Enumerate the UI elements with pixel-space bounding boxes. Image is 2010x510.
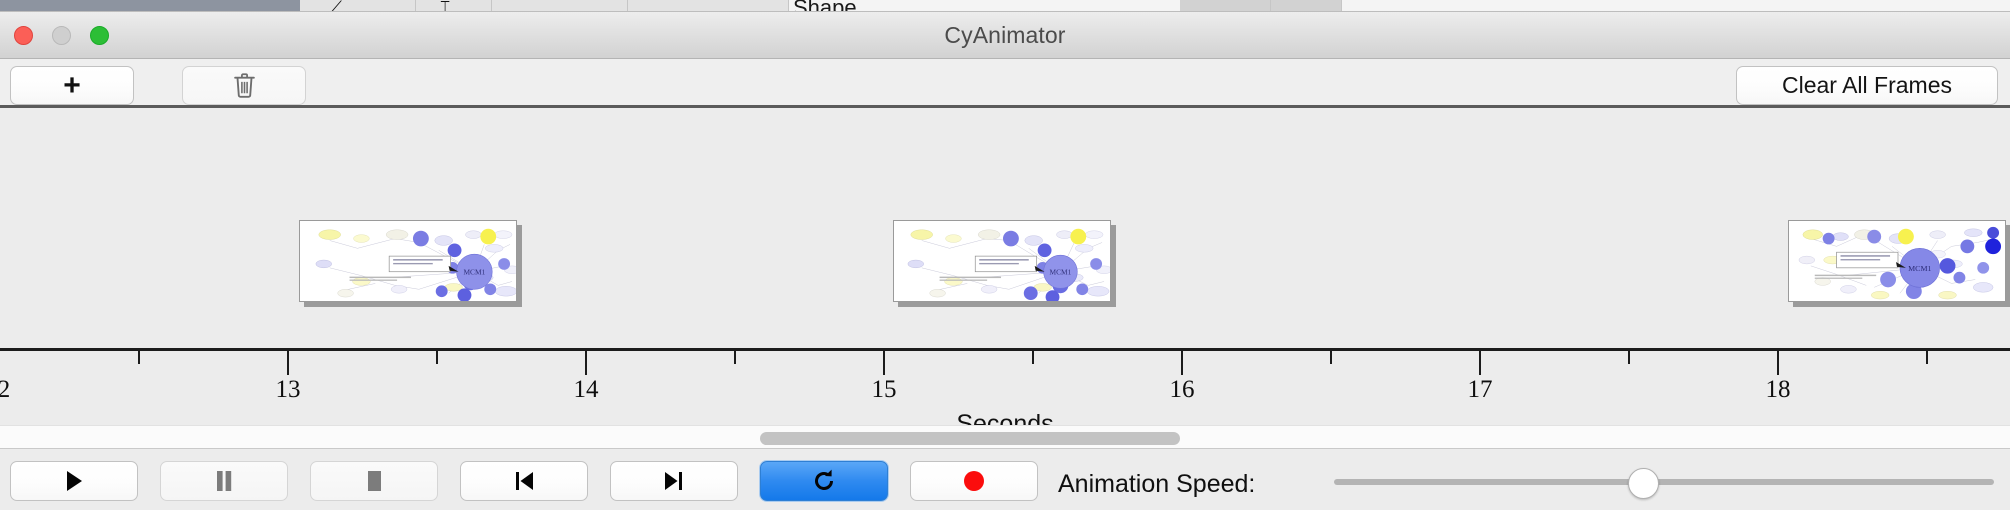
title-bar: CyAnimator [0, 12, 2010, 59]
axis-tick-label: 16 [1170, 376, 1195, 404]
axis-minor-tick [1628, 351, 1630, 364]
trash-icon [232, 72, 257, 99]
pause-button[interactable] [160, 461, 288, 501]
axis-title: Seconds [0, 410, 2010, 425]
axis-minor-tick [436, 351, 438, 364]
add-frame-button[interactable]: + [10, 66, 134, 105]
timeline-frame-thumbnail[interactable]: MCM1 [299, 220, 517, 302]
axis-major-tick [287, 351, 289, 375]
loop-icon [811, 468, 837, 494]
background-window-strip: ⟋ ⌶ Shape [0, 0, 2010, 12]
animation-speed-slider[interactable] [1334, 479, 1994, 485]
delete-frame-button[interactable] [182, 66, 306, 105]
svg-text:MCM1: MCM1 [1908, 264, 1931, 273]
previous-button[interactable] [460, 461, 588, 501]
axis-tick-label: 17 [1468, 376, 1493, 404]
axis-major-tick [1777, 351, 1779, 375]
network-thumbnail-image: MCM1 [894, 221, 1110, 301]
svg-text:MCM1: MCM1 [463, 268, 485, 277]
scrollbar-thumb[interactable] [760, 432, 1180, 445]
timeline-frame-thumbnail[interactable]: MCM1 [1788, 220, 2006, 302]
axis-minor-tick [734, 351, 736, 364]
network-thumbnail-image: MCM1 [1789, 221, 2005, 301]
record-button[interactable] [910, 461, 1038, 501]
axis-tick-label: 13 [276, 376, 301, 404]
cyanimator-window: ⟋ ⌶ Shape CyAnimator + Clear All Frames [0, 0, 2010, 510]
toolbar: + Clear All Frames [0, 59, 2010, 108]
axis-tick-label: 2 [0, 376, 10, 404]
axis-tick-label: 18 [1766, 376, 1791, 404]
animation-speed-label: Animation Speed: [1058, 470, 1255, 499]
axis-major-tick [1181, 351, 1183, 375]
window-title: CyAnimator [0, 22, 2010, 49]
timeline-panel[interactable]: MCM1 [0, 108, 2010, 425]
animation-speed-slider-thumb[interactable] [1628, 468, 1659, 499]
loop-button[interactable] [760, 461, 888, 501]
clear-all-frames-label: Clear All Frames [1782, 72, 1952, 99]
playback-controls-bar: Animation Speed: [0, 450, 2010, 510]
svg-text:MCM1: MCM1 [1050, 268, 1072, 277]
axis-minor-tick [1032, 351, 1034, 364]
skip-back-icon [512, 469, 536, 493]
axis-major-tick [1479, 351, 1481, 375]
axis-major-tick [883, 351, 885, 375]
axis-minor-tick [138, 351, 140, 364]
axis-tick-label: 14 [574, 376, 599, 404]
timeline-frame-thumbnail[interactable]: MCM1 [893, 220, 1111, 302]
next-button[interactable] [610, 461, 738, 501]
plus-icon: + [63, 71, 81, 101]
clear-all-frames-button[interactable]: Clear All Frames [1736, 66, 1998, 105]
axis-minor-tick [1330, 351, 1332, 364]
timeline-axis [0, 348, 2010, 351]
skip-fwd-icon [662, 469, 686, 493]
stop-icon [364, 469, 384, 493]
play-icon [63, 469, 85, 493]
network-thumbnail-image: MCM1 [300, 221, 516, 301]
axis-minor-tick [1926, 351, 1928, 364]
stop-button[interactable] [310, 461, 438, 501]
axis-tick-label: 15 [872, 376, 897, 404]
axis-major-tick [585, 351, 587, 375]
timeline-horizontal-scrollbar[interactable] [0, 425, 2010, 449]
record-icon [962, 469, 986, 493]
pause-icon [214, 469, 234, 493]
play-button[interactable] [10, 461, 138, 501]
